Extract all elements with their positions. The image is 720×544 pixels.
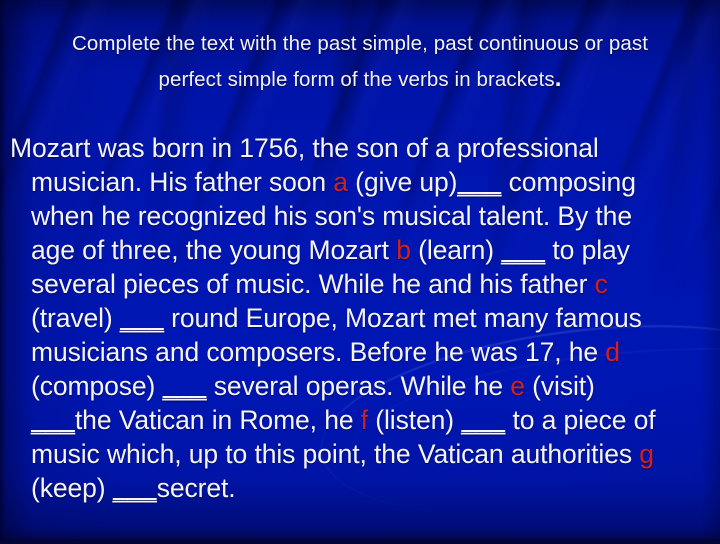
background-bottom-band (0, 539, 720, 544)
passage-text-run: age of three, the young Mozart (31, 235, 396, 265)
passage-text-run: secret. (157, 473, 236, 503)
instruction-line-2: perfect simple form of the verbs in brac… (0, 61, 720, 97)
passage-text-run: musicians and composers. Before he was 1… (31, 337, 605, 367)
presentation-slide: Complete the text with the past simple, … (0, 0, 720, 544)
answer-blank[interactable]: ___ (461, 405, 505, 435)
answer-blank[interactable]: ___ (163, 371, 207, 401)
gap-marker-letter: b (396, 235, 411, 265)
passage-text-run: (give up) (348, 167, 457, 197)
passage-line: age of three, the young Mozart b (learn)… (10, 233, 716, 267)
instruction-heading: Complete the text with the past simple, … (0, 26, 720, 97)
instruction-line-1: Complete the text with the past simple, … (0, 26, 720, 61)
passage-line: Mozart was born in 1756, the son of a pr… (10, 131, 716, 165)
passage-line: when he recognized his son's musical tal… (10, 199, 716, 233)
passage-text-run: several operas. While he (206, 371, 510, 401)
passage-line: musicians and composers. Before he was 1… (10, 335, 716, 369)
gap-marker-letter: f (361, 405, 368, 435)
instruction-period: . (555, 65, 562, 92)
passage-text-run: (keep) (31, 473, 113, 503)
passage-text-run: the Vatican in Rome, he (75, 405, 361, 435)
passage-text-run: Mozart was born in 1756, the son of a pr… (10, 133, 599, 163)
passage-text-run: (visit) (525, 371, 595, 401)
gap-marker-letter: a (333, 167, 348, 197)
instruction-line-2-text: perfect simple form of the verbs in brac… (158, 68, 554, 91)
answer-blank[interactable]: ___ (501, 235, 545, 265)
gap-marker-letter: g (639, 439, 654, 469)
passage-text: Mozart was born in 1756, the son of a pr… (10, 131, 716, 505)
passage-line: music which, up to this point, the Vatic… (10, 437, 716, 471)
passage-text-run: round Europe, Mozart met many famous (164, 303, 642, 333)
passage-text-run: (compose) (31, 371, 163, 401)
passage-text-run: several pieces of music. While he and hi… (31, 269, 595, 299)
passage-text-run: music which, up to this point, the Vatic… (31, 439, 639, 469)
answer-blank[interactable]: ___ (120, 303, 164, 333)
passage-text-run: (learn) (411, 235, 501, 265)
gap-marker-letter: c (595, 269, 608, 299)
passage-line: (keep) ___secret. (10, 471, 716, 505)
answer-blank[interactable]: ___ (31, 405, 75, 435)
passage-text-run: when he recognized his son's musical tal… (31, 201, 632, 231)
passage-text-run: to play (545, 235, 630, 265)
passage-text-run: composing (501, 167, 636, 197)
answer-blank[interactable]: ___ (457, 167, 501, 197)
passage-line: several pieces of music. While he and hi… (10, 267, 716, 301)
passage-text-run: to a piece of (505, 405, 655, 435)
passage-text-run: musician. His father soon (31, 167, 333, 197)
gap-marker-letter: e (510, 371, 525, 401)
passage-line: (travel) ___ round Europe, Mozart met ma… (10, 301, 716, 335)
passage-line: musician. His father soon a (give up)___… (10, 165, 716, 199)
passage-text-run: (travel) (31, 303, 120, 333)
passage-line: (compose) ___ several operas. While he e… (10, 369, 716, 403)
gap-marker-letter: d (605, 337, 620, 367)
passage-text-run: (listen) (368, 405, 461, 435)
passage-line: ___the Vatican in Rome, he f (listen) __… (10, 403, 716, 437)
answer-blank[interactable]: ___ (113, 473, 157, 503)
